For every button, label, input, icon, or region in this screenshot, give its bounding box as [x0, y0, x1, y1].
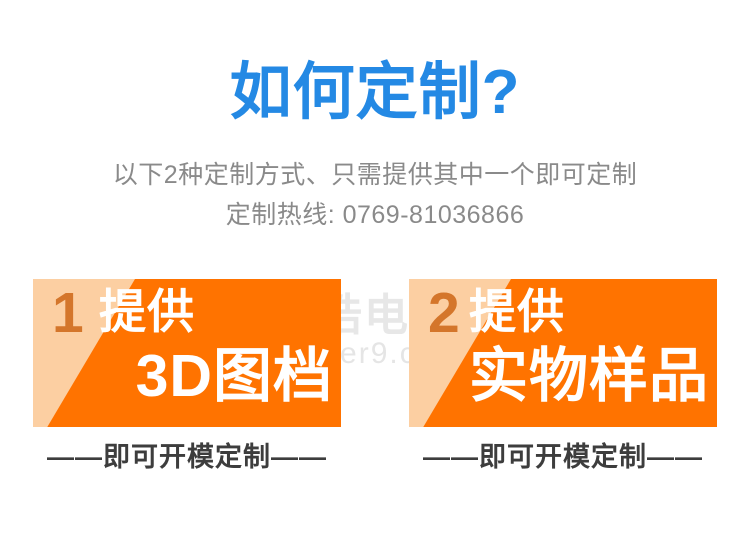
- card-text-block-1: 提供 3D图档: [85, 283, 333, 411]
- subtitle-hotline: 定制热线: 0769-81036866: [0, 198, 750, 232]
- card-line1-1: 提供: [85, 283, 333, 341]
- card-line2-2: 实物样品: [461, 341, 709, 411]
- card-number-2: 2: [428, 281, 460, 345]
- page-title: 如何定制?: [0, 56, 750, 130]
- option-card-1[interactable]: 1 提供 3D图档: [33, 279, 341, 427]
- card-caption-2: ——即可开模定制——: [409, 439, 717, 475]
- promo-page: 如何定制? 以下2种定制方式、只需提供其中一个即可定制 定制热线: 0769-8…: [0, 0, 750, 546]
- option-card-2[interactable]: 2 提供 实物样品: [409, 279, 717, 427]
- subtitle-line-1: 以下2种定制方式、只需提供其中一个即可定制: [0, 158, 750, 192]
- card-caption-1: ——即可开模定制——: [33, 439, 341, 475]
- card-line2-1: 3D图档: [85, 341, 333, 411]
- card-line1-2: 提供: [461, 283, 709, 341]
- card-text-block-2: 提供 实物样品: [461, 283, 709, 411]
- card-number-1: 1: [52, 281, 84, 345]
